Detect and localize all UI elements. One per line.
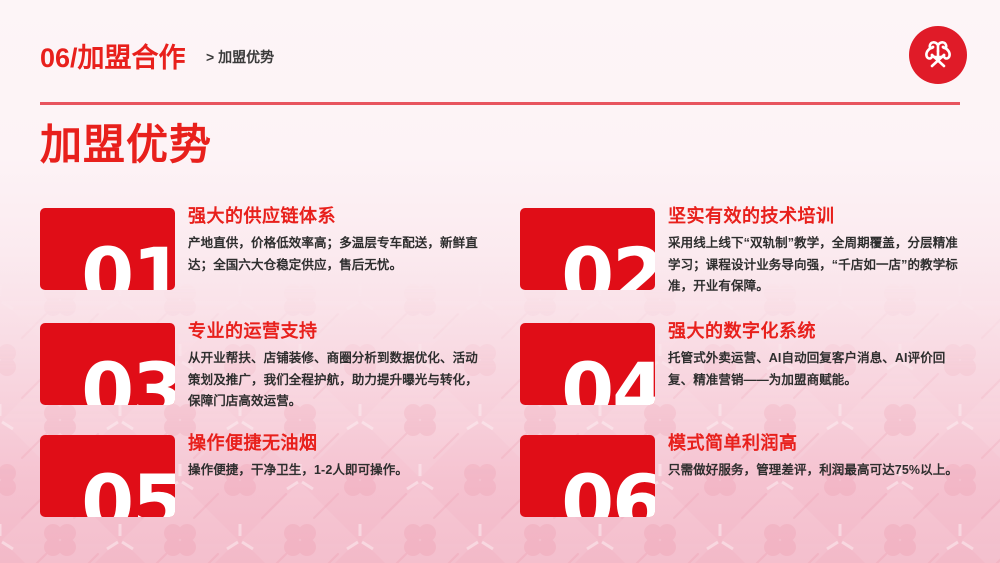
- card-description: 只需做好服务，管理差评，利润最高可达75%以上。: [668, 460, 970, 482]
- card-number: 06: [561, 465, 655, 517]
- advantage-card-05[interactable]: 05 操作便捷无油烟 操作便捷，干净卫生，1-2人即可操作。: [40, 432, 490, 542]
- breadcrumb: > 加盟优势: [206, 47, 274, 67]
- advantage-card-06[interactable]: 06 模式简单利润高 只需做好服务，管理差评，利润最高可达75%以上。: [520, 432, 970, 542]
- card-number: 03: [81, 353, 175, 405]
- card-body: 强大的供应链体系 产地直供，价格低效率高；多温层专车配送，新鲜直达；全国六大仓稳…: [188, 205, 490, 276]
- advantage-card-03[interactable]: 03 专业的运营支持 从开业帮扶、店铺装修、商圈分析到数据优化、活动策划及推广，…: [40, 320, 490, 430]
- advantage-card-04[interactable]: 04 强大的数字化系统 托管式外卖运营、AI自动回复客户消息、AI评价回复、精准…: [520, 320, 970, 430]
- card-number: 04: [561, 353, 655, 405]
- page-header: 06/加盟合作 > 加盟优势: [0, 0, 1000, 104]
- advantage-card-02[interactable]: 02 坚实有效的技术培训 采用线上线下“双轨制”教学，全周期覆盖，分层精准学习；…: [520, 205, 970, 315]
- card-title: 模式简单利润高: [668, 432, 970, 455]
- card-number: 05: [81, 465, 175, 517]
- section-kicker: 06/加盟合作: [40, 36, 186, 75]
- card-number-badge: 01: [40, 208, 175, 290]
- brand-logo: [909, 26, 967, 84]
- card-title: 操作便捷无油烟: [188, 432, 490, 455]
- card-description: 操作便捷，干净卫生，1-2人即可操作。: [188, 460, 490, 482]
- card-number-badge: 02: [520, 208, 655, 290]
- brand-knot-icon: [918, 35, 958, 75]
- card-body: 模式简单利润高 只需做好服务，管理差评，利润最高可达75%以上。: [668, 432, 970, 482]
- card-body: 专业的运营支持 从开业帮扶、店铺装修、商圈分析到数据优化、活动策划及推广，我们全…: [188, 320, 490, 413]
- card-title: 专业的运营支持: [188, 320, 490, 343]
- card-description: 从开业帮扶、店铺装修、商圈分析到数据优化、活动策划及推广，我们全程护航，助力提升…: [188, 348, 490, 413]
- card-description: 托管式外卖运营、AI自动回复客户消息、AI评价回复、精准营销——为加盟商赋能。: [668, 348, 970, 391]
- card-number-badge: 03: [40, 323, 175, 405]
- card-title: 强大的数字化系统: [668, 320, 970, 343]
- card-description: 采用线上线下“双轨制”教学，全周期覆盖，分层精准学习；课程设计业务导向强，“千店…: [668, 233, 970, 298]
- card-title: 强大的供应链体系: [188, 205, 490, 228]
- card-description: 产地直供，价格低效率高；多温层专车配送，新鲜直达；全国六大仓稳定供应，售后无忧。: [188, 233, 490, 276]
- card-number-badge: 05: [40, 435, 175, 517]
- card-body: 操作便捷无油烟 操作便捷，干净卫生，1-2人即可操作。: [188, 432, 490, 482]
- card-number-badge: 04: [520, 323, 655, 405]
- card-number: 01: [81, 238, 175, 290]
- advantage-card-01[interactable]: 01 强大的供应链体系 产地直供，价格低效率高；多温层专车配送，新鲜直达；全国六…: [40, 205, 490, 315]
- card-body: 坚实有效的技术培训 采用线上线下“双轨制”教学，全周期覆盖，分层精准学习；课程设…: [668, 205, 970, 298]
- page-title: 加盟优势: [40, 122, 212, 168]
- card-number-badge: 06: [520, 435, 655, 517]
- header-divider: [40, 102, 960, 105]
- card-title: 坚实有效的技术培训: [668, 205, 970, 228]
- card-body: 强大的数字化系统 托管式外卖运营、AI自动回复客户消息、AI评价回复、精准营销—…: [668, 320, 970, 391]
- card-number: 02: [561, 238, 655, 290]
